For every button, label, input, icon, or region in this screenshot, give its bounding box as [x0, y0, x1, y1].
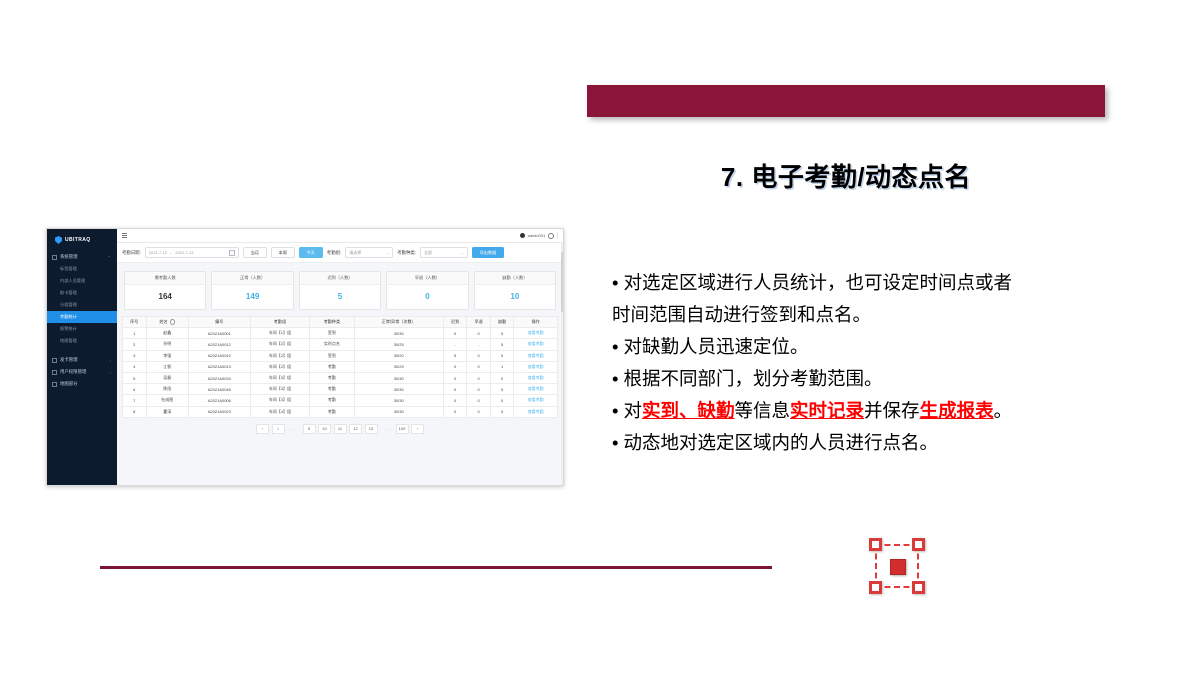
logo-text: UBITRAQ [65, 237, 91, 243]
sidebar-group-系统管理[interactable]: 系统管理⌃ [47, 251, 117, 263]
sidebar-item-label: 标签管理 [60, 266, 77, 272]
bullet-line: •对缺勤人员迅速定位。 [612, 332, 1112, 362]
bullet-marker: • [612, 336, 618, 357]
table-row: 6陈阳A2021A0045车间【3】组考勤30/30000查看考勤 [123, 384, 558, 395]
table-cell: 30/30 [354, 406, 443, 417]
range-button-month[interactable]: 当月 [243, 247, 267, 258]
table-cell: 2 [123, 339, 147, 350]
table-col-操作: 操作 [514, 317, 558, 328]
table-cell: 0 [443, 395, 467, 406]
scrollbar-vertical[interactable] [561, 242, 564, 485]
bullet-marker: • [612, 368, 618, 389]
sidebar-item-报警统计[interactable]: 报警统计 [47, 323, 117, 335]
table-cell: 3 [123, 350, 147, 361]
bullet-line: •动态地对选定区域内的人员进行点名。 [612, 428, 1112, 458]
table-cell: 杜成图 [146, 395, 188, 406]
sidebar-group-label: 系统管理 [60, 254, 78, 260]
grid-icon [52, 255, 57, 260]
table-cell: 30/20 [354, 350, 443, 361]
table-cell: 0 [490, 384, 514, 395]
table-cell: 0 [467, 372, 491, 383]
highlighted-text: 实到、缺勤 [642, 400, 735, 421]
table-cell: A2021A0001 [188, 328, 250, 339]
chevron-right-icon: › [110, 370, 111, 375]
sidebar-item-label: 取卡管理 [60, 290, 77, 296]
sidebar-item-label: 报警统计 [60, 326, 77, 332]
table-cell: - [467, 339, 491, 350]
table-col-缺勤: 缺勤 [490, 317, 514, 328]
handle-bottom-right [912, 581, 925, 594]
table-cell: 赵鑫 [146, 328, 188, 339]
table-col-编号: 编号 [188, 317, 250, 328]
table-body: 1赵鑫A2021A0001车间【1】组签到30/30000查看考勤2孙明A202… [123, 328, 558, 418]
table-cell: 30/30 [354, 395, 443, 406]
card-icon [52, 370, 57, 375]
type-select[interactable]: 全部 ⌄ [420, 247, 468, 258]
table-cell: 车间【2】组 [250, 339, 309, 350]
sidebar: UBITRAQ 系统管理⌃标签管理内部人员管理取卡管理分组管理考勤统计报警统计地… [47, 229, 117, 485]
user-name: admin001 [528, 233, 546, 238]
app-header: admin001 [117, 229, 563, 243]
sidebar-item-label: 发卡管理 [60, 357, 78, 363]
group-filter-label: 考勤组: [327, 250, 341, 256]
table-cell: 考勤 [310, 384, 354, 395]
bullet-text: 对缺勤人员迅速定位。 [623, 336, 808, 357]
view-attendance-link[interactable]: 查看考勤 [514, 384, 558, 395]
table-cell: 7 [123, 395, 147, 406]
chevron-down-icon: ⌄ [386, 250, 389, 255]
stat-card-title: 迟到（人数） [300, 272, 380, 285]
app-screenshot: UBITRAQ 系统管理⌃标签管理内部人员管理取卡管理分组管理考勤统计报警统计地… [46, 228, 564, 486]
date-end: 2021-7-13 [175, 250, 193, 255]
search-icon[interactable] [170, 319, 175, 324]
sidebar-item-label: 内部人员管理 [60, 278, 85, 284]
table-cell: 0 [443, 328, 467, 339]
table-cell: 0 [443, 361, 467, 372]
group-select[interactable]: 请选择 ⌄ [345, 247, 393, 258]
sidebar-item-分组管理[interactable]: 分组管理 [47, 299, 117, 311]
sidebar-item-考勤统计[interactable]: 考勤统计 [47, 311, 117, 323]
calendar-icon[interactable] [229, 250, 235, 256]
export-button[interactable]: 导出数据 [472, 247, 504, 258]
pagination-page-13[interactable]: 13 [365, 424, 378, 434]
bullet-text: 时间范围自动进行签到和点名。 [612, 304, 871, 325]
pagination-prev[interactable]: ‹ [256, 424, 269, 434]
stat-card-row: 需考勤人数164正常（人数）149迟到（人数）5早退（人数）0缺勤（人数）10 [117, 263, 563, 316]
date-range-input[interactable]: 2021-7-12 – 2021-7-13 [145, 247, 239, 258]
pagination-page-1[interactable]: 1 [272, 424, 285, 434]
stat-card-迟到（人数）: 迟到（人数）5 [299, 271, 381, 310]
table-cell: 30/25 [354, 339, 443, 350]
sidebar-item-label: 考勤统计 [60, 314, 77, 320]
chevron-up-icon: ⌃ [108, 255, 111, 260]
stat-card-value: 10 [475, 285, 555, 309]
table-cell: 考勤 [310, 395, 354, 406]
table-cell: 车间【3】组 [250, 384, 309, 395]
table-cell: 考勤 [310, 361, 354, 372]
handle-top-right [912, 538, 925, 551]
type-filter-label: 考勤种类: [397, 250, 416, 256]
table-col-考勤种类: 考勤种类 [310, 317, 354, 328]
table-cell: 5 [443, 350, 467, 361]
table-cell: A2021A0006 [188, 395, 250, 406]
table-cell: 1 [490, 361, 514, 372]
center-square [890, 559, 906, 575]
table-cell: 车间【3】组 [250, 395, 309, 406]
date-filter-label: 考勤日期: [122, 250, 141, 256]
stat-card-title: 缺勤（人数） [475, 272, 555, 285]
table-cell: 江帆 [146, 361, 188, 372]
range-button-today[interactable]: 今天 [299, 247, 323, 258]
attendance-table: 序号姓名编号考勤组考勤种类正常/异常（次数）迟到早退缺勤操作 1赵鑫A2021A… [122, 316, 558, 418]
sidebar-item-内部人员管理[interactable]: 内部人员管理 [47, 275, 117, 287]
table-row: 3李强A2021A0042车间【2】组签到30/20505查看考勤 [123, 350, 558, 361]
accent-bar [587, 85, 1105, 117]
table-cell: 0 [490, 328, 514, 339]
app-main: admin001 考勤日期: 2021-7-12 – 2021-7-13 当月 … [117, 229, 563, 485]
stat-card-早退（人数）: 早退（人数）0 [386, 271, 468, 310]
app-logo: UBITRAQ [47, 229, 117, 251]
table-cell: 签到 [310, 328, 354, 339]
bullet-line: •对实到、缺勤等信息实时记录并保存生成报表。 [612, 396, 1112, 426]
table-cell: 吴磊 [146, 372, 188, 383]
pagination-page-100[interactable]: 100 [396, 424, 409, 434]
table-cell: 0 [467, 350, 491, 361]
highlighted-text: 实时记录 [790, 400, 864, 421]
sidebar-item-地图管理[interactable]: 地图管理 [47, 335, 117, 347]
card-icon [52, 358, 57, 363]
sidebar-item-取卡管理[interactable]: 取卡管理 [47, 287, 117, 299]
table-cell: 30/29 [354, 361, 443, 372]
table-cell: 车间【1】组 [250, 328, 309, 339]
table-row: 7杜成图A2021A0006车间【3】组考勤30/30000查看考勤 [123, 395, 558, 406]
pagination-page-9[interactable]: 9 [303, 424, 316, 434]
hamburger-icon[interactable] [122, 233, 127, 238]
bullet-text: 对选定区域进行人员统计，也可设定时间点或者 [623, 272, 1012, 293]
table-cell: A2021A0012 [188, 339, 250, 350]
table-cell: 0 [490, 406, 514, 417]
bullet-line: •对选定区域进行人员统计，也可设定时间点或者 [612, 268, 1112, 298]
chevron-right-icon: › [110, 358, 111, 363]
table-cell: 30/30 [354, 372, 443, 383]
pagination-ellipsis[interactable]: ... [287, 424, 300, 434]
sidebar-item-用户权限管理[interactable]: 用户权限管理› [47, 366, 117, 378]
selection-handles-icon [869, 538, 925, 594]
date-separator: – [170, 250, 172, 255]
shield-icon [55, 236, 62, 244]
table-cell: 1 [123, 328, 147, 339]
table-cell: 车间【3】组 [250, 372, 309, 383]
table-cell: 车间【2】组 [250, 361, 309, 372]
table-header-row: 序号姓名编号考勤组考勤种类正常/异常（次数）迟到早退缺勤操作 [123, 317, 558, 328]
pagination: ‹1...910111213...100› [117, 418, 563, 439]
slide: 7. 电子考勤/动态点名 •对选定区域进行人员统计，也可设定时间点或者时间范围自… [0, 0, 1204, 678]
highlighted-text: 生成报表 [920, 400, 994, 421]
table-row: 5吴磊A2021A0034车间【3】组考勤30/30000查看考勤 [123, 372, 558, 383]
table-cell: 5 [123, 372, 147, 383]
view-attendance-link[interactable]: 查看考勤 [514, 350, 558, 361]
table-cell: 0 [467, 384, 491, 395]
table-cell: 0 [490, 395, 514, 406]
table-cell: 5 [490, 350, 514, 361]
table-cell: A2021A0034 [188, 372, 250, 383]
table-cell: 车间【2】组 [250, 350, 309, 361]
pagination-next[interactable]: › [411, 424, 424, 434]
page-title: 7. 电子考勤/动态点名 [587, 160, 1105, 194]
sidebar-item-label: 地图管理 [60, 338, 77, 344]
type-select-value: 全部 [424, 250, 432, 256]
view-attendance-link[interactable]: 查看考勤 [514, 395, 558, 406]
avatar-icon[interactable] [520, 233, 525, 238]
table-cell: A2021A0045 [188, 384, 250, 395]
sidebar-item-发卡管理[interactable]: 发卡管理› [47, 354, 117, 366]
bullet-text: 等信息 [735, 400, 791, 421]
divider [100, 566, 772, 569]
stat-card-title: 正常（人数） [212, 272, 292, 285]
group-select-value: 请选择 [349, 250, 361, 256]
table-col-迟到: 迟到 [443, 317, 467, 328]
table-cell: 5 [490, 339, 514, 350]
date-start: 2021-7-12 [149, 250, 167, 255]
view-attendance-link[interactable]: 查看考勤 [514, 361, 558, 372]
bullet-text: 对 [623, 400, 642, 421]
table-cell: 0 [467, 406, 491, 417]
gear-icon[interactable] [548, 233, 554, 239]
chevron-down-icon: ⌄ [461, 250, 464, 255]
pagination-page-10[interactable]: 10 [318, 424, 331, 434]
bullet-text: 。 [994, 400, 1013, 421]
table-cell: 0 [467, 395, 491, 406]
bullet-line: •根据不同部门，划分考勤范围。 [612, 364, 1112, 394]
pagination-page-11[interactable]: 11 [334, 424, 347, 434]
table-cell: 4 [123, 361, 147, 372]
handle-top-left [869, 538, 882, 551]
filter-toolbar: 考勤日期: 2021-7-12 – 2021-7-13 当月 本周 今天 考勤组… [117, 243, 563, 263]
table-cell: 0 [467, 361, 491, 372]
table-cell: 考勤 [310, 372, 354, 383]
table-row: 8霍涛A2021A0023车间【4】组考勤30/30000查看考勤 [123, 406, 558, 417]
view-attendance-link[interactable]: 查看考勤 [514, 372, 558, 383]
bullet-list: •对选定区域进行人员统计，也可设定时间点或者时间范围自动进行签到和点名。•对缺勤… [612, 268, 1112, 460]
table-cell: 0 [443, 406, 467, 417]
table-cell: 0 [467, 328, 491, 339]
table-cell: 陈阳 [146, 384, 188, 395]
table-cell: - [443, 339, 467, 350]
table-cell: 签到 [310, 350, 354, 361]
table-col-序号: 序号 [123, 317, 147, 328]
sidebar-spacer [47, 347, 117, 354]
table-cell: 李强 [146, 350, 188, 361]
bullet-line: 时间范围自动进行签到和点名。 [612, 300, 1112, 330]
table-cell: 0 [443, 384, 467, 395]
table-cell: 霍涛 [146, 406, 188, 417]
table-row: 1赵鑫A2021A0001车间【1】组签到30/30000查看考勤 [123, 328, 558, 339]
table-cell: 0 [490, 372, 514, 383]
pagination-page-12[interactable]: 12 [349, 424, 362, 434]
range-button-week[interactable]: 本周 [271, 247, 295, 258]
table-col-姓名: 姓名 [146, 317, 188, 328]
stat-card-value: 164 [125, 285, 205, 309]
handle-bottom-left [869, 581, 882, 594]
table-row: 4江帆A2021A0013车间【2】组考勤30/29001查看考勤 [123, 361, 558, 372]
stat-card-正常（人数）: 正常（人数）149 [211, 271, 293, 310]
table-cell: 8 [123, 406, 147, 417]
table-row: 2孙明A2021A0012车间【2】组实时点名30/25--5查看考勤 [123, 339, 558, 350]
table-cell: 车间【4】组 [250, 406, 309, 417]
sidebar-item-label: 分组管理 [60, 302, 77, 308]
table-cell: 6 [123, 384, 147, 395]
table-cell: 孙明 [146, 339, 188, 350]
table-col-正常/异常（次数）: 正常/异常（次数） [354, 317, 443, 328]
sidebar-item-标签管理[interactable]: 标签管理 [47, 263, 117, 275]
bullet-marker: • [612, 272, 618, 293]
table-cell: 考勤 [310, 406, 354, 417]
table-cell: A2021A0042 [188, 350, 250, 361]
view-attendance-link[interactable]: 查看考勤 [514, 328, 558, 339]
stat-card-value: 149 [212, 285, 292, 309]
map-icon [52, 382, 57, 387]
table-cell: 0 [443, 372, 467, 383]
table-col-考勤组: 考勤组 [250, 317, 309, 328]
stat-card-title: 早退（人数） [387, 272, 467, 285]
sidebar-item-label: 地图部分 [60, 381, 78, 387]
table-cell: 30/30 [354, 384, 443, 395]
table-cell: 30/30 [354, 328, 443, 339]
stat-card-value: 0 [387, 285, 467, 309]
sidebar-item-地图部分[interactable]: 地图部分 [47, 378, 117, 390]
stat-card-需考勤人数: 需考勤人数164 [124, 271, 206, 310]
table-col-早退: 早退 [467, 317, 491, 328]
bullet-marker: • [612, 432, 618, 453]
bullet-marker: • [612, 400, 618, 421]
stat-card-value: 5 [300, 285, 380, 309]
sidebar-item-label: 用户权限管理 [60, 369, 86, 375]
bullet-text: 根据不同部门，划分考勤范围。 [623, 368, 882, 389]
header-divider [557, 232, 558, 239]
table-cell: A2021A0023 [188, 406, 250, 417]
pagination-ellipsis[interactable]: ... [380, 424, 393, 434]
bullet-text: 并保存 [864, 400, 920, 421]
stat-card-title: 需考勤人数 [125, 272, 205, 285]
view-attendance-link[interactable]: 查看考勤 [514, 339, 558, 350]
table-cell: 实时点名 [310, 339, 354, 350]
view-attendance-link[interactable]: 查看考勤 [514, 406, 558, 417]
bullet-text: 动态地对选定区域内的人员进行点名。 [623, 432, 938, 453]
stat-card-缺勤（人数）: 缺勤（人数）10 [474, 271, 556, 310]
table-cell: A2021A0013 [188, 361, 250, 372]
